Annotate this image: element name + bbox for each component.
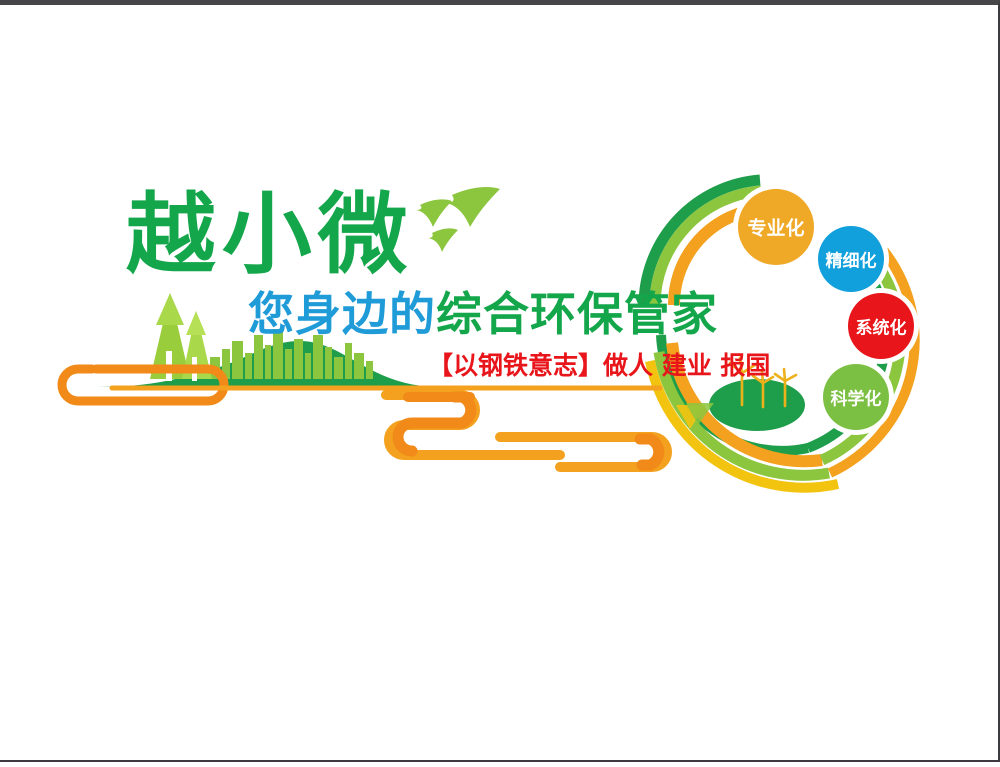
green-hill-left (96, 341, 448, 387)
subtitle-part-green: 综合环保管家 (436, 287, 718, 341)
badge-circle-科学化[interactable] (818, 359, 894, 435)
badge-circle-专业化[interactable] (733, 184, 819, 270)
poster-canvas: 越小微 您身边的综合环保管家 【以钢铁意志】做人 建业 报国 专业化 精细化 系… (0, 0, 1000, 762)
slogan-text: 【以钢铁意志】做人 建业 报国 (428, 353, 770, 378)
subtitle: 您身边的综合环保管家 (248, 291, 718, 337)
subtitle-part-blue: 您身边的 (248, 287, 436, 341)
green-hill-icon (709, 379, 805, 431)
poster-artwork (0, 5, 1000, 767)
badge-circle-系统化[interactable] (843, 288, 919, 364)
bird-flock-icon (416, 187, 500, 252)
page-title: 越小微 (126, 191, 414, 279)
badge-circle-精细化[interactable] (813, 221, 889, 297)
orange-ribbon-zigzag (386, 395, 667, 467)
